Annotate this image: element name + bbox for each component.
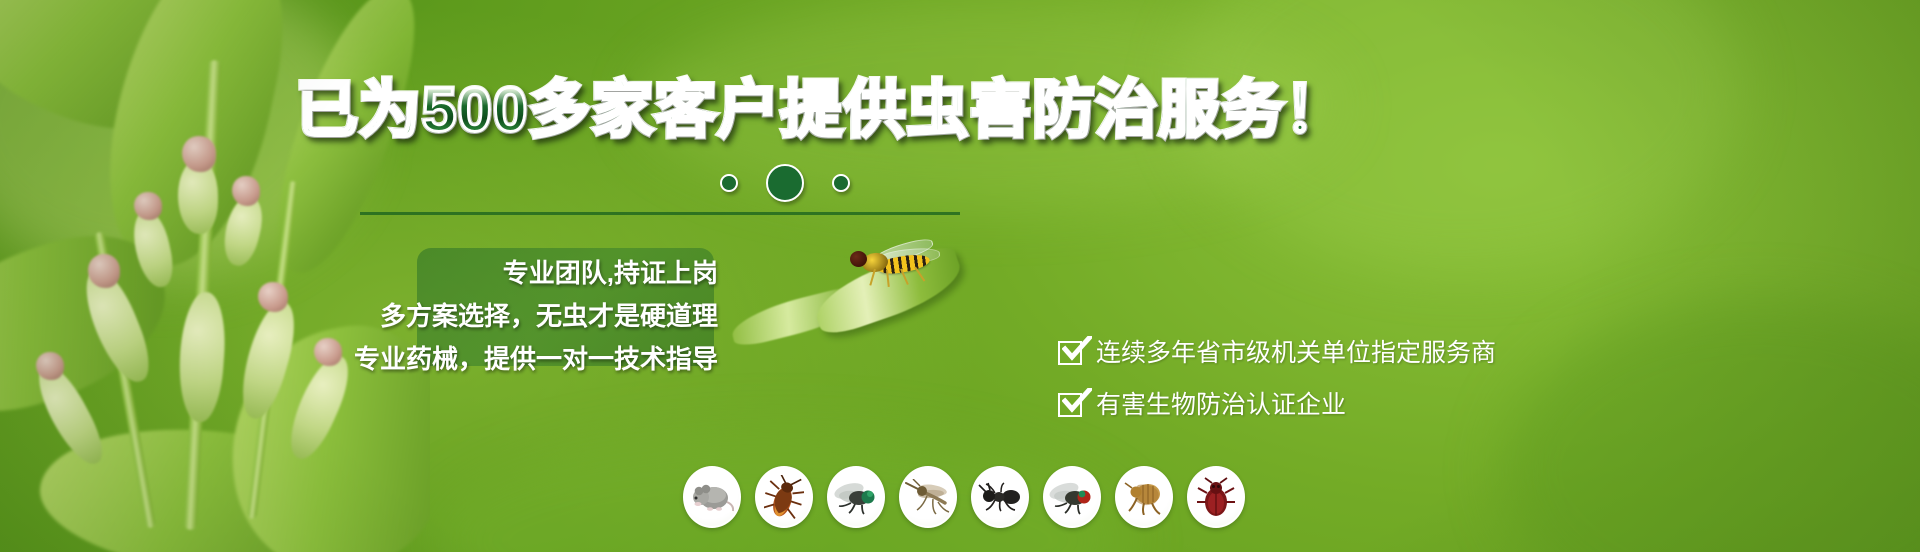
fly-head <box>850 251 867 267</box>
checklist-item: 连续多年省市级机关单位指定服务商 <box>1058 339 1496 367</box>
slogan-line-2: 多方案选择，无虫才是硬道理 <box>330 299 718 333</box>
dot-small-right-icon <box>832 174 850 192</box>
checklist-item: 有害生物防治认证企业 <box>1058 391 1496 419</box>
flea-icon[interactable] <box>1115 466 1173 528</box>
fly-icon[interactable] <box>827 466 885 528</box>
checklist-item-label: 连续多年省市级机关单位指定服务商 <box>1096 339 1496 367</box>
slogan-line-1: 专业团队,持证上岗 <box>330 256 718 290</box>
pest-control-hero-banner: 已为500多家客户提供虫害防治服务！ 已为500多家客户提供虫害防治服务！ 专业… <box>0 0 1920 552</box>
checkbox-checked-icon <box>1058 393 1082 417</box>
plant-bud <box>176 291 229 424</box>
plant-bud <box>258 282 288 312</box>
plant-bud <box>134 192 162 220</box>
hoverfly-image <box>848 240 956 286</box>
decorative-dots <box>700 158 960 206</box>
fly-leg <box>914 266 925 281</box>
mosquito-icon[interactable] <box>899 466 957 528</box>
bedbug-icon[interactable] <box>1187 466 1245 528</box>
background-bokeh-blotch <box>1500 300 1920 552</box>
page-title: 已为500多家客户提供虫害防治服务！ <box>296 78 1347 144</box>
plant-bud <box>232 176 260 206</box>
dot-large-icon <box>766 164 804 202</box>
checkbox-checked-icon <box>1058 341 1082 365</box>
credentials-checklist: 连续多年省市级机关单位指定服务商 有害生物防治认证企业 <box>1058 339 1496 443</box>
plant-bud <box>182 136 216 172</box>
dot-small-left-icon <box>720 174 738 192</box>
slogan-list: 专业团队,持证上岗 多方案选择，无虫才是硬道理 专业药械，提供一对一技术指导 <box>330 256 750 376</box>
fly-green-icon[interactable] <box>1043 466 1101 528</box>
cockroach-icon[interactable] <box>755 466 813 528</box>
mouse-icon[interactable] <box>683 466 741 528</box>
checklist-item-label: 有害生物防治认证企业 <box>1096 391 1346 419</box>
slogan-line-3: 专业药械，提供一对一技术指导 <box>330 342 718 376</box>
ant-icon[interactable] <box>971 466 1029 528</box>
pest-type-icon-row <box>683 466 1245 528</box>
plant-bud <box>88 254 120 288</box>
plant-bud <box>36 352 64 380</box>
divider-rule <box>360 212 960 215</box>
